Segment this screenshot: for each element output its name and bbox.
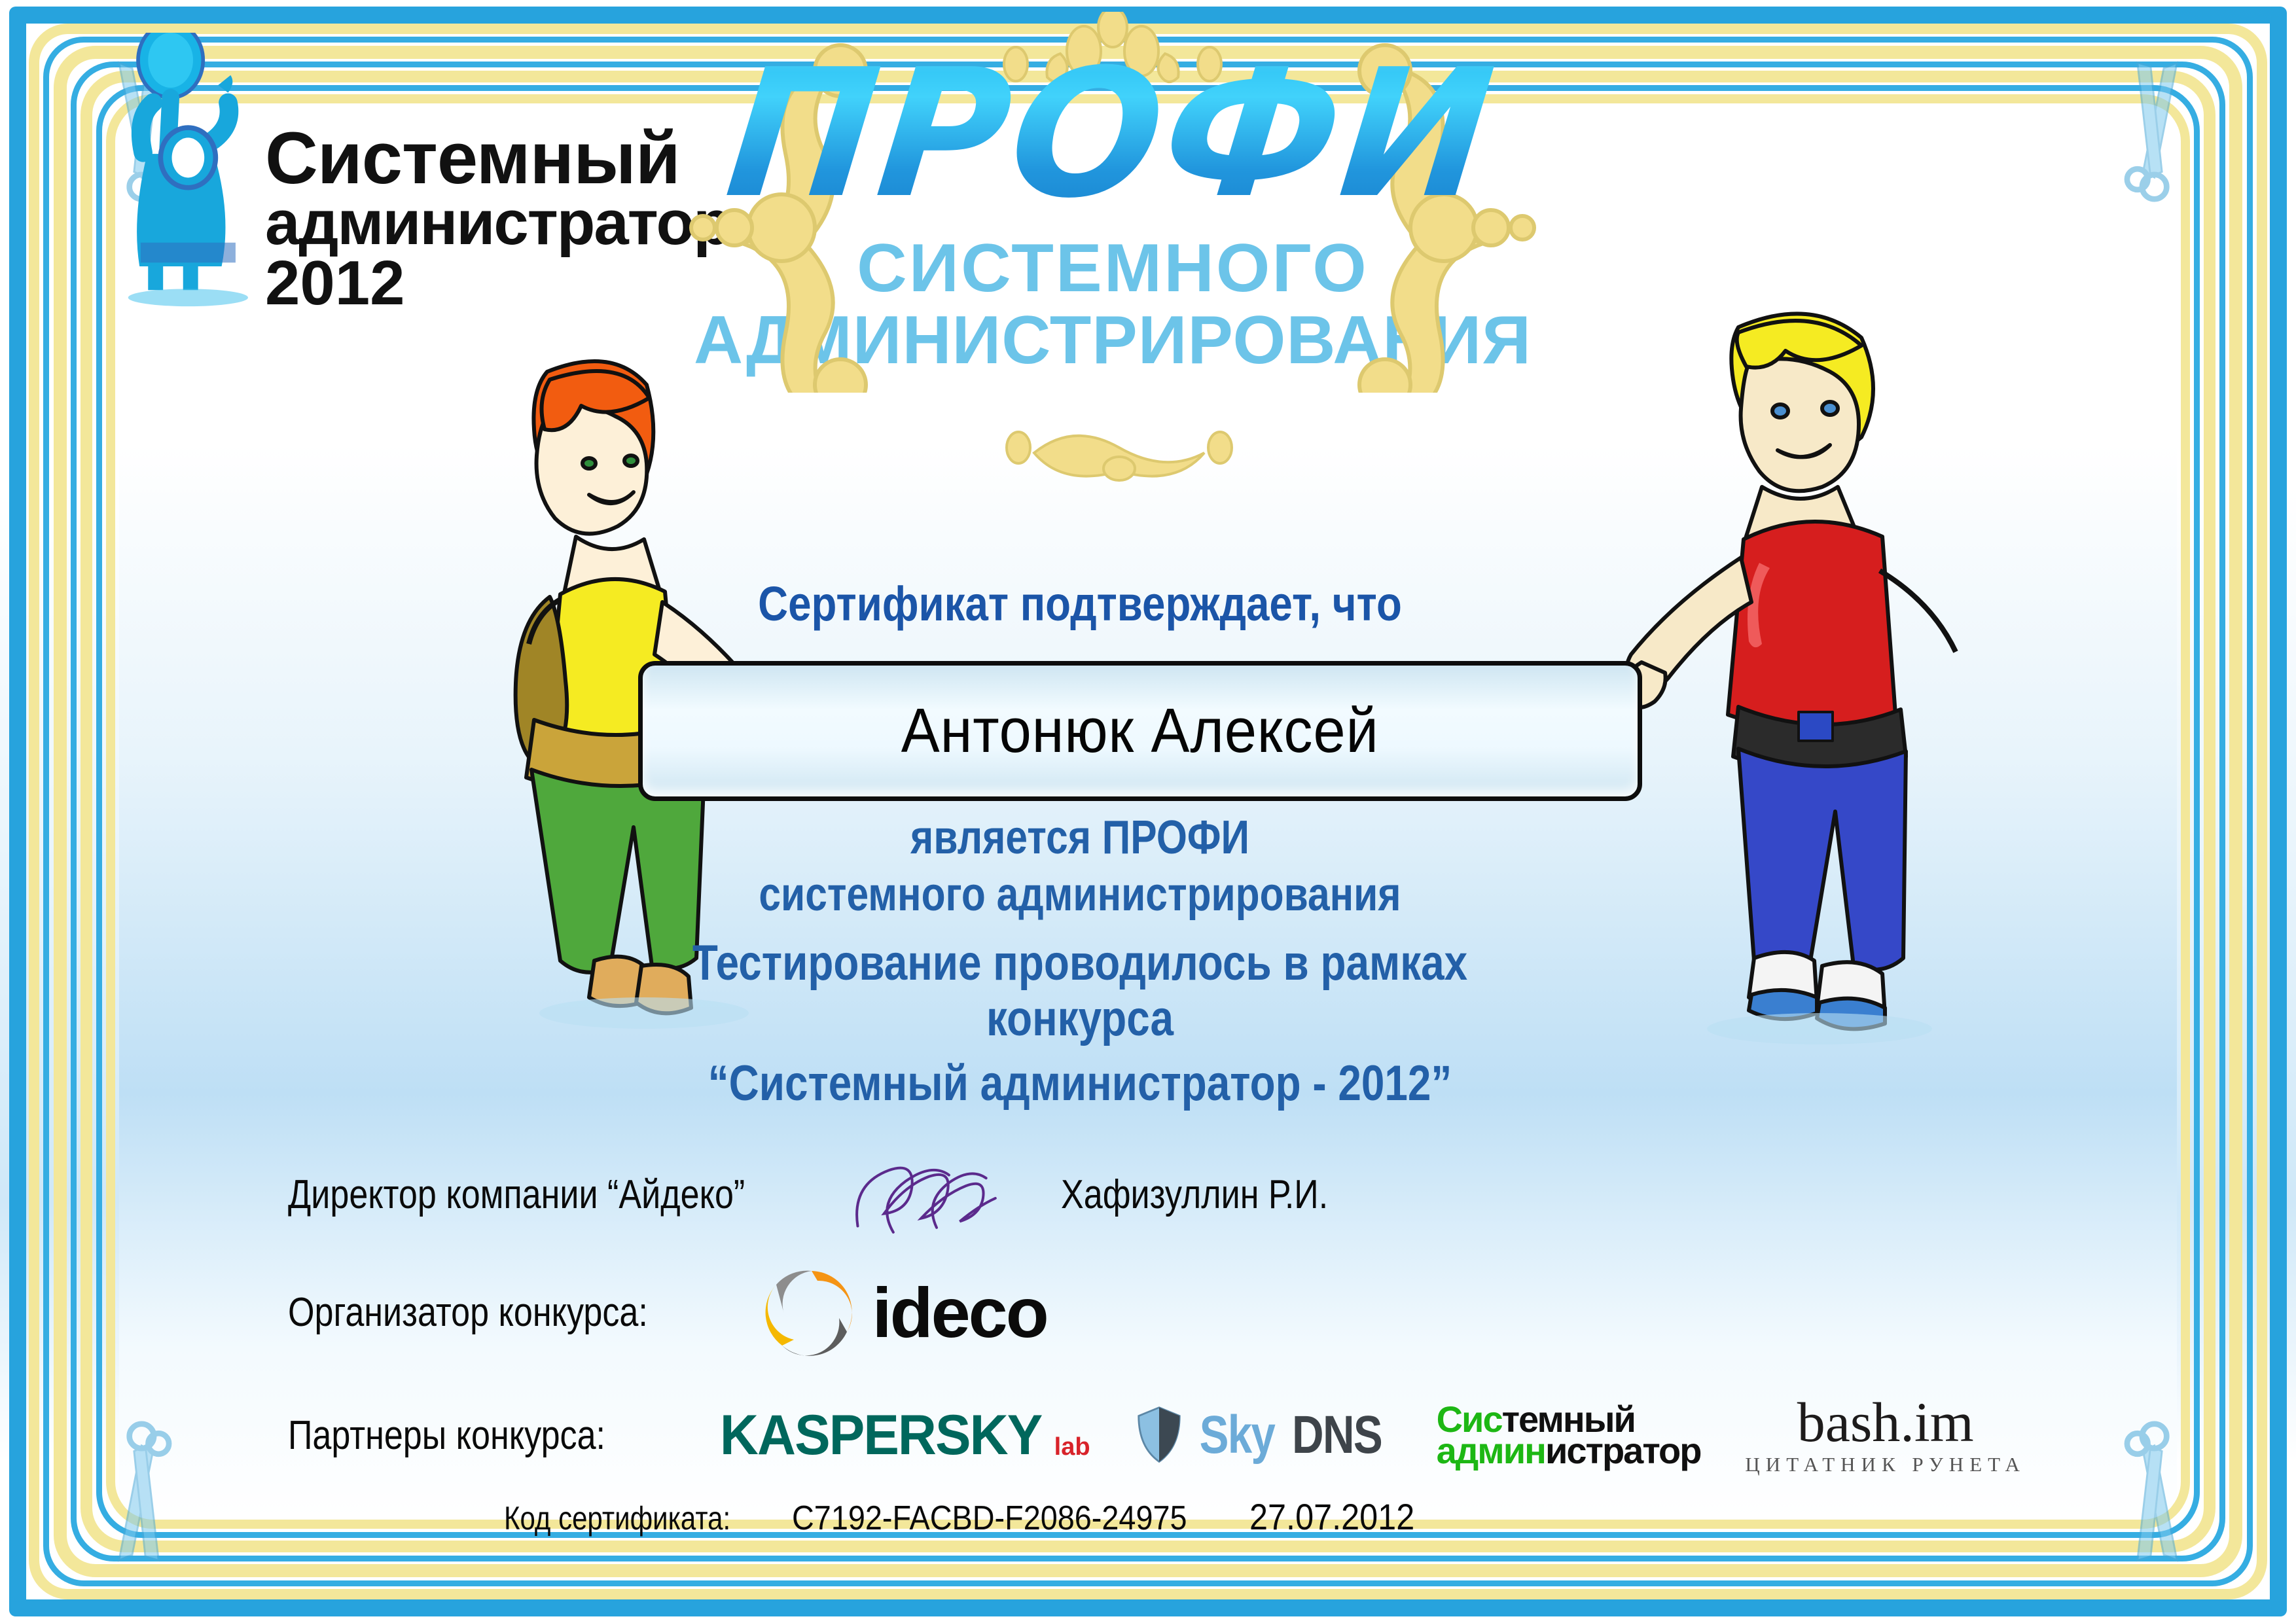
scissors-icon [2100,1414,2198,1564]
event-logo-text: Системный администратор 2012 [265,124,684,313]
body-line-4: “Системный администратор - 2012” [668,1056,1492,1111]
sysadmin-logo-line2: администратор [1437,1435,1701,1467]
certificate-code-row: Код сертификата: C7192-FACBD-F2086-24975… [504,1495,1433,1538]
kaspersky-wordmark: KASPERSKY [720,1403,1041,1468]
bash-wordmark: bash.im [1745,1394,2026,1450]
skydns-sky-text: Sky [1199,1404,1274,1466]
ideco-logo: ideco [762,1263,1047,1361]
director-label: Директор компании “Айдеко” [288,1171,745,1218]
certificate-body: является ПРОФИ системного администрирова… [589,811,1571,1112]
ideco-mark-icon [762,1263,861,1361]
certificate-page: Системный администратор 2012 [0,0,2296,1623]
recipient-name: Антонюк Алексей [901,695,1379,767]
handwritten-signature [838,1152,1035,1237]
body-line-2: системного администрирования [668,868,1492,921]
event-logo-line2: администратор [265,194,684,252]
certificate-code-value: C7192-FACBD-F2086-24975 [792,1499,1187,1538]
partner-logo-skydns: Sky DNS [1135,1404,1392,1466]
certificate-code-label: Код сертификата: [504,1499,730,1537]
kaspersky-lab-suffix: lab [1054,1433,1090,1461]
shield-icon [1135,1405,1183,1465]
skydns-dns-text: DNS [1292,1404,1382,1466]
eskimo-mascot-icon [105,33,281,308]
partner-logo-bash-im: bash.im ЦИТАТНИК РУНЕТА [1745,1394,2026,1476]
certificate-statement: Сертификат подтверждает, что [686,576,1474,632]
body-line-1: является ПРОФИ [668,811,1492,865]
certificate-date: 27.07.2012 [1249,1495,1414,1538]
organizer-row: Организатор конкурса: ideco [288,1263,1047,1361]
sysadmin-logo-line2-black: истратор [1545,1430,1700,1471]
organizer-label: Организатор конкурса: [288,1289,648,1336]
profi-subtitle-line2: АДМИНИСТРИРОВАНИЯ [687,306,1538,374]
recipient-name-field: Антонюк Алексей [638,661,1642,801]
partner-logo-sistemnyy-administrator: Системный администратор [1437,1404,1701,1467]
partners-label: Партнеры конкурса: [288,1412,605,1459]
scissors-icon [2100,59,2198,209]
sysadmin-logo-line2-green: админ [1437,1430,1545,1471]
scissors-icon [98,1414,196,1564]
body-line-3: Тестирование проводилось в рамках конкур… [668,935,1492,1046]
director-signature-row: Директор компании “Айдеко” Хафизуллин Р.… [288,1152,1466,1237]
partner-logo-kaspersky: KASPERSKY lab [711,1403,1090,1468]
profi-masthead: ПРОФИ СИСТЕМНОГО АДМИНИСТРИРОВАНИЯ [687,20,1538,504]
director-name: Хафизуллин Р.И. [1061,1171,1328,1218]
profi-wordmark: ПРОФИ [677,20,1549,223]
partners-row: Партнеры конкурса: KASPERSKY lab Sky DNS… [288,1394,2026,1476]
profi-subtitle-line1: СИСТЕМНОГО [679,234,1547,302]
event-logo-line1: Системный [265,124,684,192]
ornament-flourish-bottom-icon [995,406,1244,484]
ideco-wordmark: ideco [872,1272,1047,1353]
partner-logos: KASPERSKY lab Sky DNS Системный админист… [711,1394,2026,1476]
male-character-illustration [1623,288,1990,1060]
bash-tagline: ЦИТАТНИК РУНЕТА [1745,1453,2026,1476]
event-logo-year: 2012 [265,255,684,312]
